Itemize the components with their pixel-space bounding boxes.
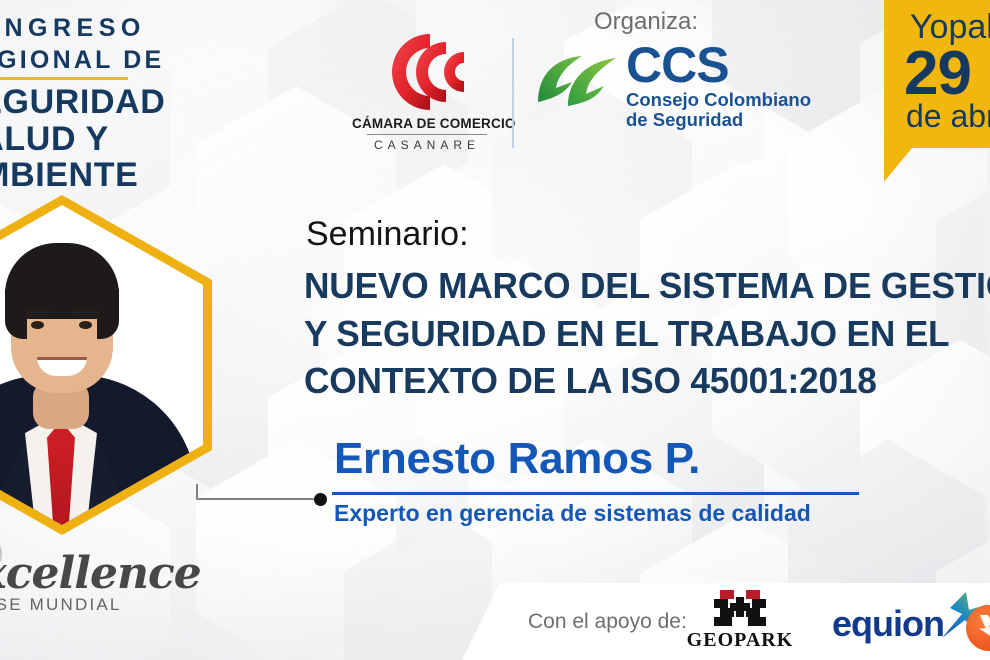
eyebrow-label: Seminario: bbox=[306, 215, 469, 254]
camara-comercio-c-arcs-icon bbox=[368, 30, 486, 114]
speaker-role: Experto en gerencia de sistemas de calid… bbox=[334, 500, 811, 527]
portrait-leader-line bbox=[196, 484, 326, 500]
portrait-photo bbox=[0, 205, 203, 525]
congress-title: CONGRESO REGIONAL DE SEGURIDAD SALUD Y A… bbox=[0, 16, 256, 194]
congress-line-5: AMBIENTE bbox=[0, 157, 256, 194]
date-month: de abril bbox=[906, 98, 990, 135]
camara-comercio-rule bbox=[367, 134, 487, 135]
watermark-script: Excellence bbox=[0, 548, 201, 599]
geopark-mark-icon bbox=[712, 588, 768, 628]
speaker-portrait-hexagon bbox=[0, 195, 212, 535]
camara-comercio-logo: CÁMARA DE COMERCIO CASANARE bbox=[352, 30, 502, 152]
date-banner: Yopal 29 de abril bbox=[884, 0, 990, 148]
congress-line-4: SALUD Y bbox=[0, 121, 256, 158]
ccs-tagline-1: Consejo Colombiano bbox=[626, 90, 811, 110]
organiza-label: Organiza: bbox=[594, 8, 698, 36]
speaker-underline bbox=[332, 492, 859, 495]
title-line-2: Y SEGURIDAD EN EL TRABAJO EN EL bbox=[304, 310, 990, 358]
geopark-logo: GEOPARK bbox=[681, 588, 799, 652]
ccs-logo: CCS Consejo Colombiano de Seguridad bbox=[532, 44, 811, 129]
congress-line-1: CONGRESO bbox=[0, 16, 256, 41]
congress-line-2: REGIONAL DE bbox=[0, 48, 256, 73]
logo-divider bbox=[512, 38, 514, 148]
ccs-green-swoosh-icon bbox=[532, 48, 620, 114]
sponsors-label: Con el apoyo de: bbox=[528, 610, 687, 634]
geopark-wordmark: GEOPARK bbox=[681, 629, 799, 652]
speaker-name: Ernesto Ramos P. bbox=[334, 434, 700, 484]
ccs-acronym: CCS bbox=[626, 44, 811, 86]
ccs-tagline-2: de Seguridad bbox=[626, 110, 811, 130]
title-line-1: NUEVO MARCO DEL SISTEMA DE GESTIÓN bbox=[304, 262, 990, 310]
equion-wordmark: equion bbox=[832, 606, 944, 642]
seminar-banner: CONGRESO REGIONAL DE SEGURIDAD SALUD Y A… bbox=[0, 0, 990, 660]
equion-logo: equion bbox=[832, 606, 988, 642]
title-line-3: CONTEXTO DE LA ISO 45001:2018 bbox=[304, 357, 990, 405]
congress-line-3: SEGURIDAD bbox=[0, 84, 256, 121]
camara-comercio-name: CÁMARA DE COMERCIO bbox=[352, 116, 502, 131]
leader-line-dot bbox=[314, 493, 327, 506]
page-title: NUEVO MARCO DEL SISTEMA DE GESTIÓN Y SEG… bbox=[304, 262, 990, 405]
camara-comercio-region: CASANARE bbox=[352, 138, 502, 152]
excellence-watermark: Excellence CLASE MUNDIAL bbox=[0, 548, 201, 615]
congress-gold-rule bbox=[0, 77, 128, 80]
